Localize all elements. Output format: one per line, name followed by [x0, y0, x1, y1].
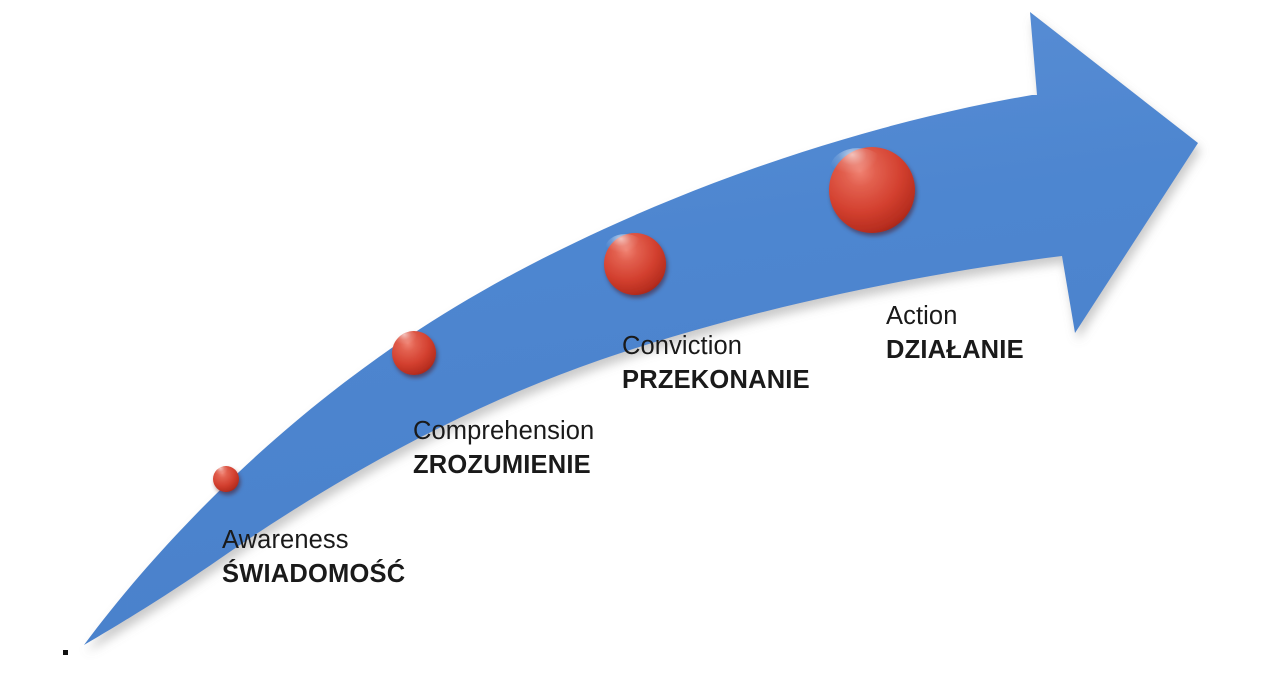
stage-marker-comprehension[interactable] — [392, 331, 436, 375]
stage-label-comprehension: Comprehension ZROZUMIENIE — [413, 418, 594, 479]
stage-label-comprehension-en: Comprehension — [413, 418, 594, 445]
stage-marker-awareness[interactable] — [213, 466, 239, 492]
origin-dot — [63, 650, 68, 655]
stage-label-awareness-en: Awareness — [222, 527, 405, 554]
stage-label-conviction-en: Conviction — [622, 333, 810, 360]
stage-label-action-pl: DZIAŁANIE — [886, 337, 1024, 364]
stage-label-comprehension-pl: ZROZUMIENIE — [413, 452, 594, 479]
stage-label-conviction-pl: PRZEKONANIE — [622, 367, 810, 394]
stage-label-action: Action DZIAŁANIE — [886, 303, 1024, 364]
stage-marker-action[interactable] — [829, 147, 915, 233]
diagram-canvas: Awareness ŚWIADOMOŚĆ Comprehension ZROZU… — [0, 0, 1280, 676]
stage-label-conviction: Conviction PRZEKONANIE — [622, 333, 810, 394]
stage-marker-conviction[interactable] — [604, 233, 666, 295]
stage-label-awareness: Awareness ŚWIADOMOŚĆ — [222, 527, 405, 588]
stage-label-awareness-pl: ŚWIADOMOŚĆ — [222, 561, 405, 588]
stage-label-action-en: Action — [886, 303, 1024, 330]
